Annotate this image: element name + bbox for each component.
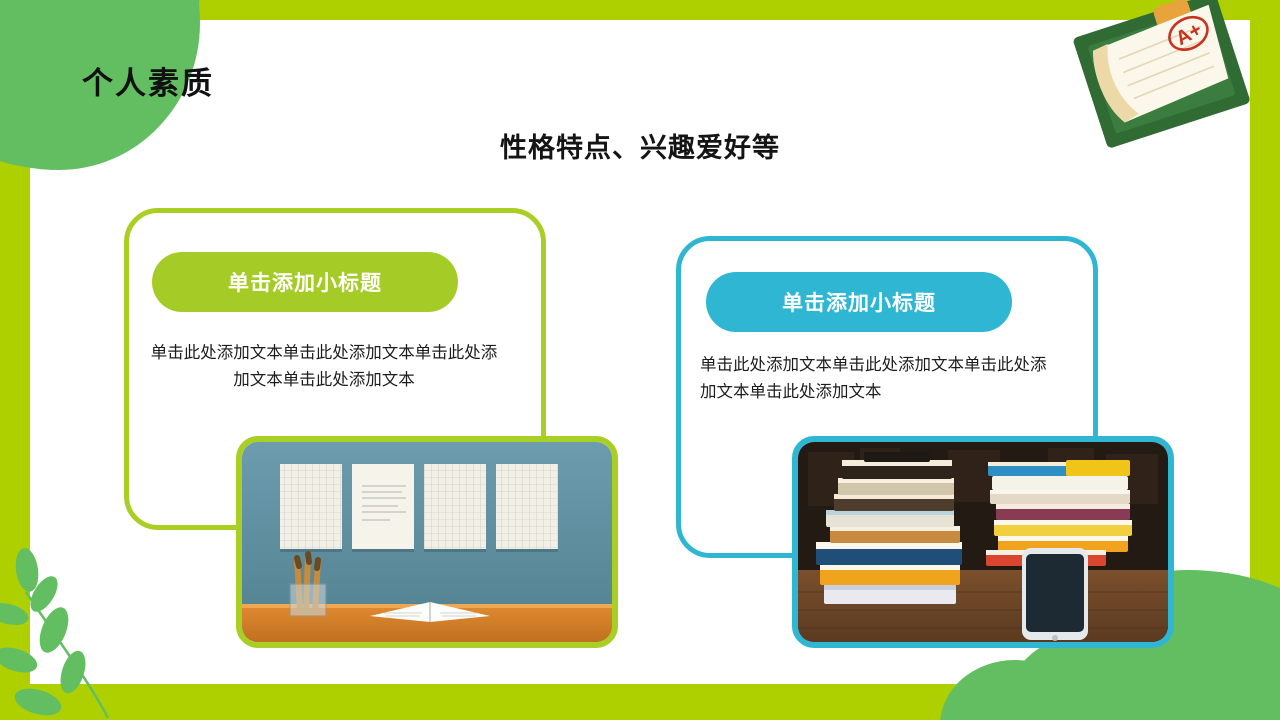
slide-canvas: A+ 个人素质 性格特点、兴趣爱好等 单击添加小标题 单击此处添加文本单击此处添…	[0, 0, 1280, 720]
study-desk-photo[interactable]	[236, 436, 618, 648]
page-subtitle: 性格特点、兴趣爱好等	[0, 126, 1280, 165]
card-left-pill-title[interactable]: 单击添加小标题	[152, 252, 458, 312]
stacked-books-photo[interactable]	[792, 436, 1174, 648]
leaf-branch-icon	[0, 520, 150, 720]
card-right-pill-title[interactable]: 单击添加小标题	[706, 272, 1012, 332]
card-right-body-text: 单击此处添加文本单击此处添加文本单击此处添加文本单击此处添加文本	[700, 352, 1060, 406]
page-title: 个人素质	[82, 58, 214, 103]
card-left-body-text: 单击此处添加文本单击此处添加文本单击此处添加文本单击此处添加文本	[148, 340, 500, 394]
